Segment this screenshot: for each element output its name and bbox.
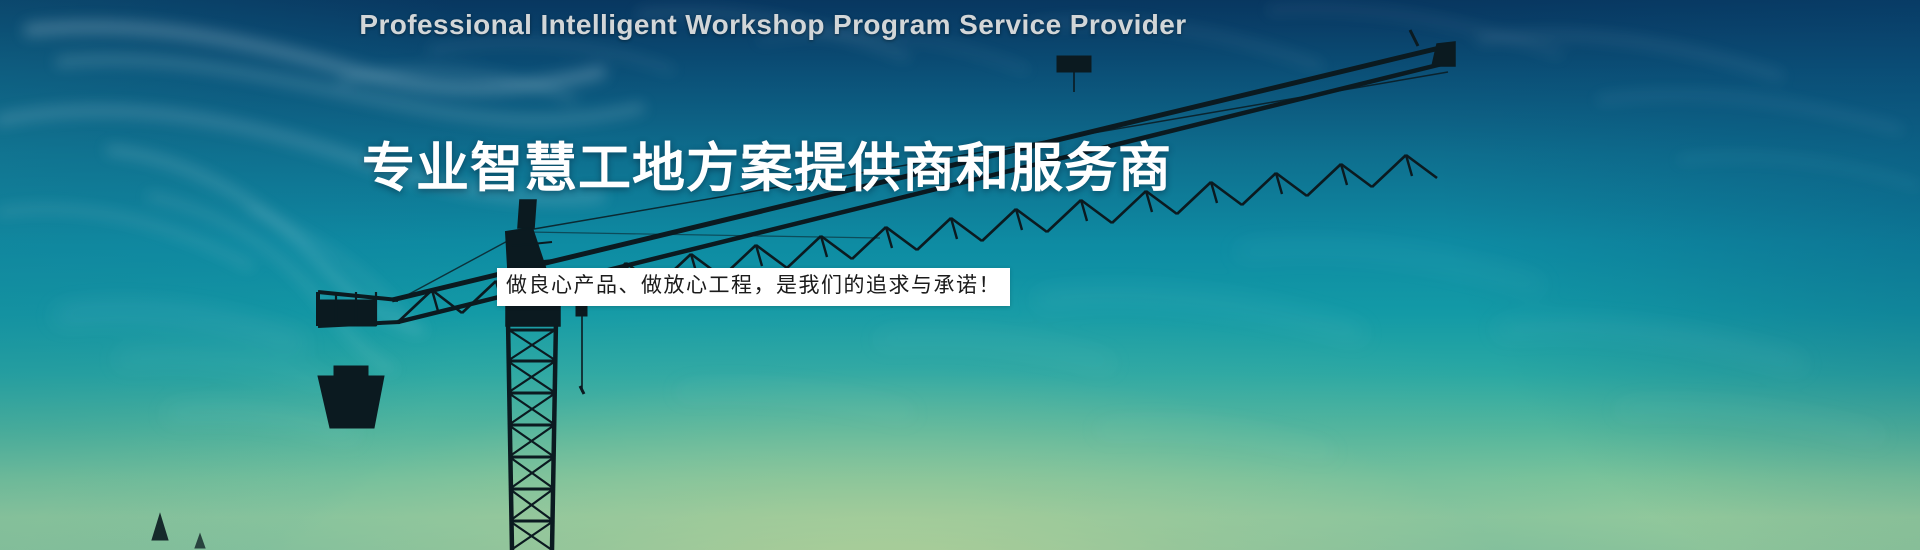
banner-tagline-english: Professional Intelligent Workshop Progra… [0,9,1546,41]
hero-banner: Professional Intelligent Workshop Progra… [0,0,1920,550]
banner-headline-chinese: 专业智慧工地方案提供商和服务商 [0,126,1534,202]
banner-subtitle-slogan: 做良心产品、做放心工程，是我们的追求与承诺！ [497,268,1010,306]
